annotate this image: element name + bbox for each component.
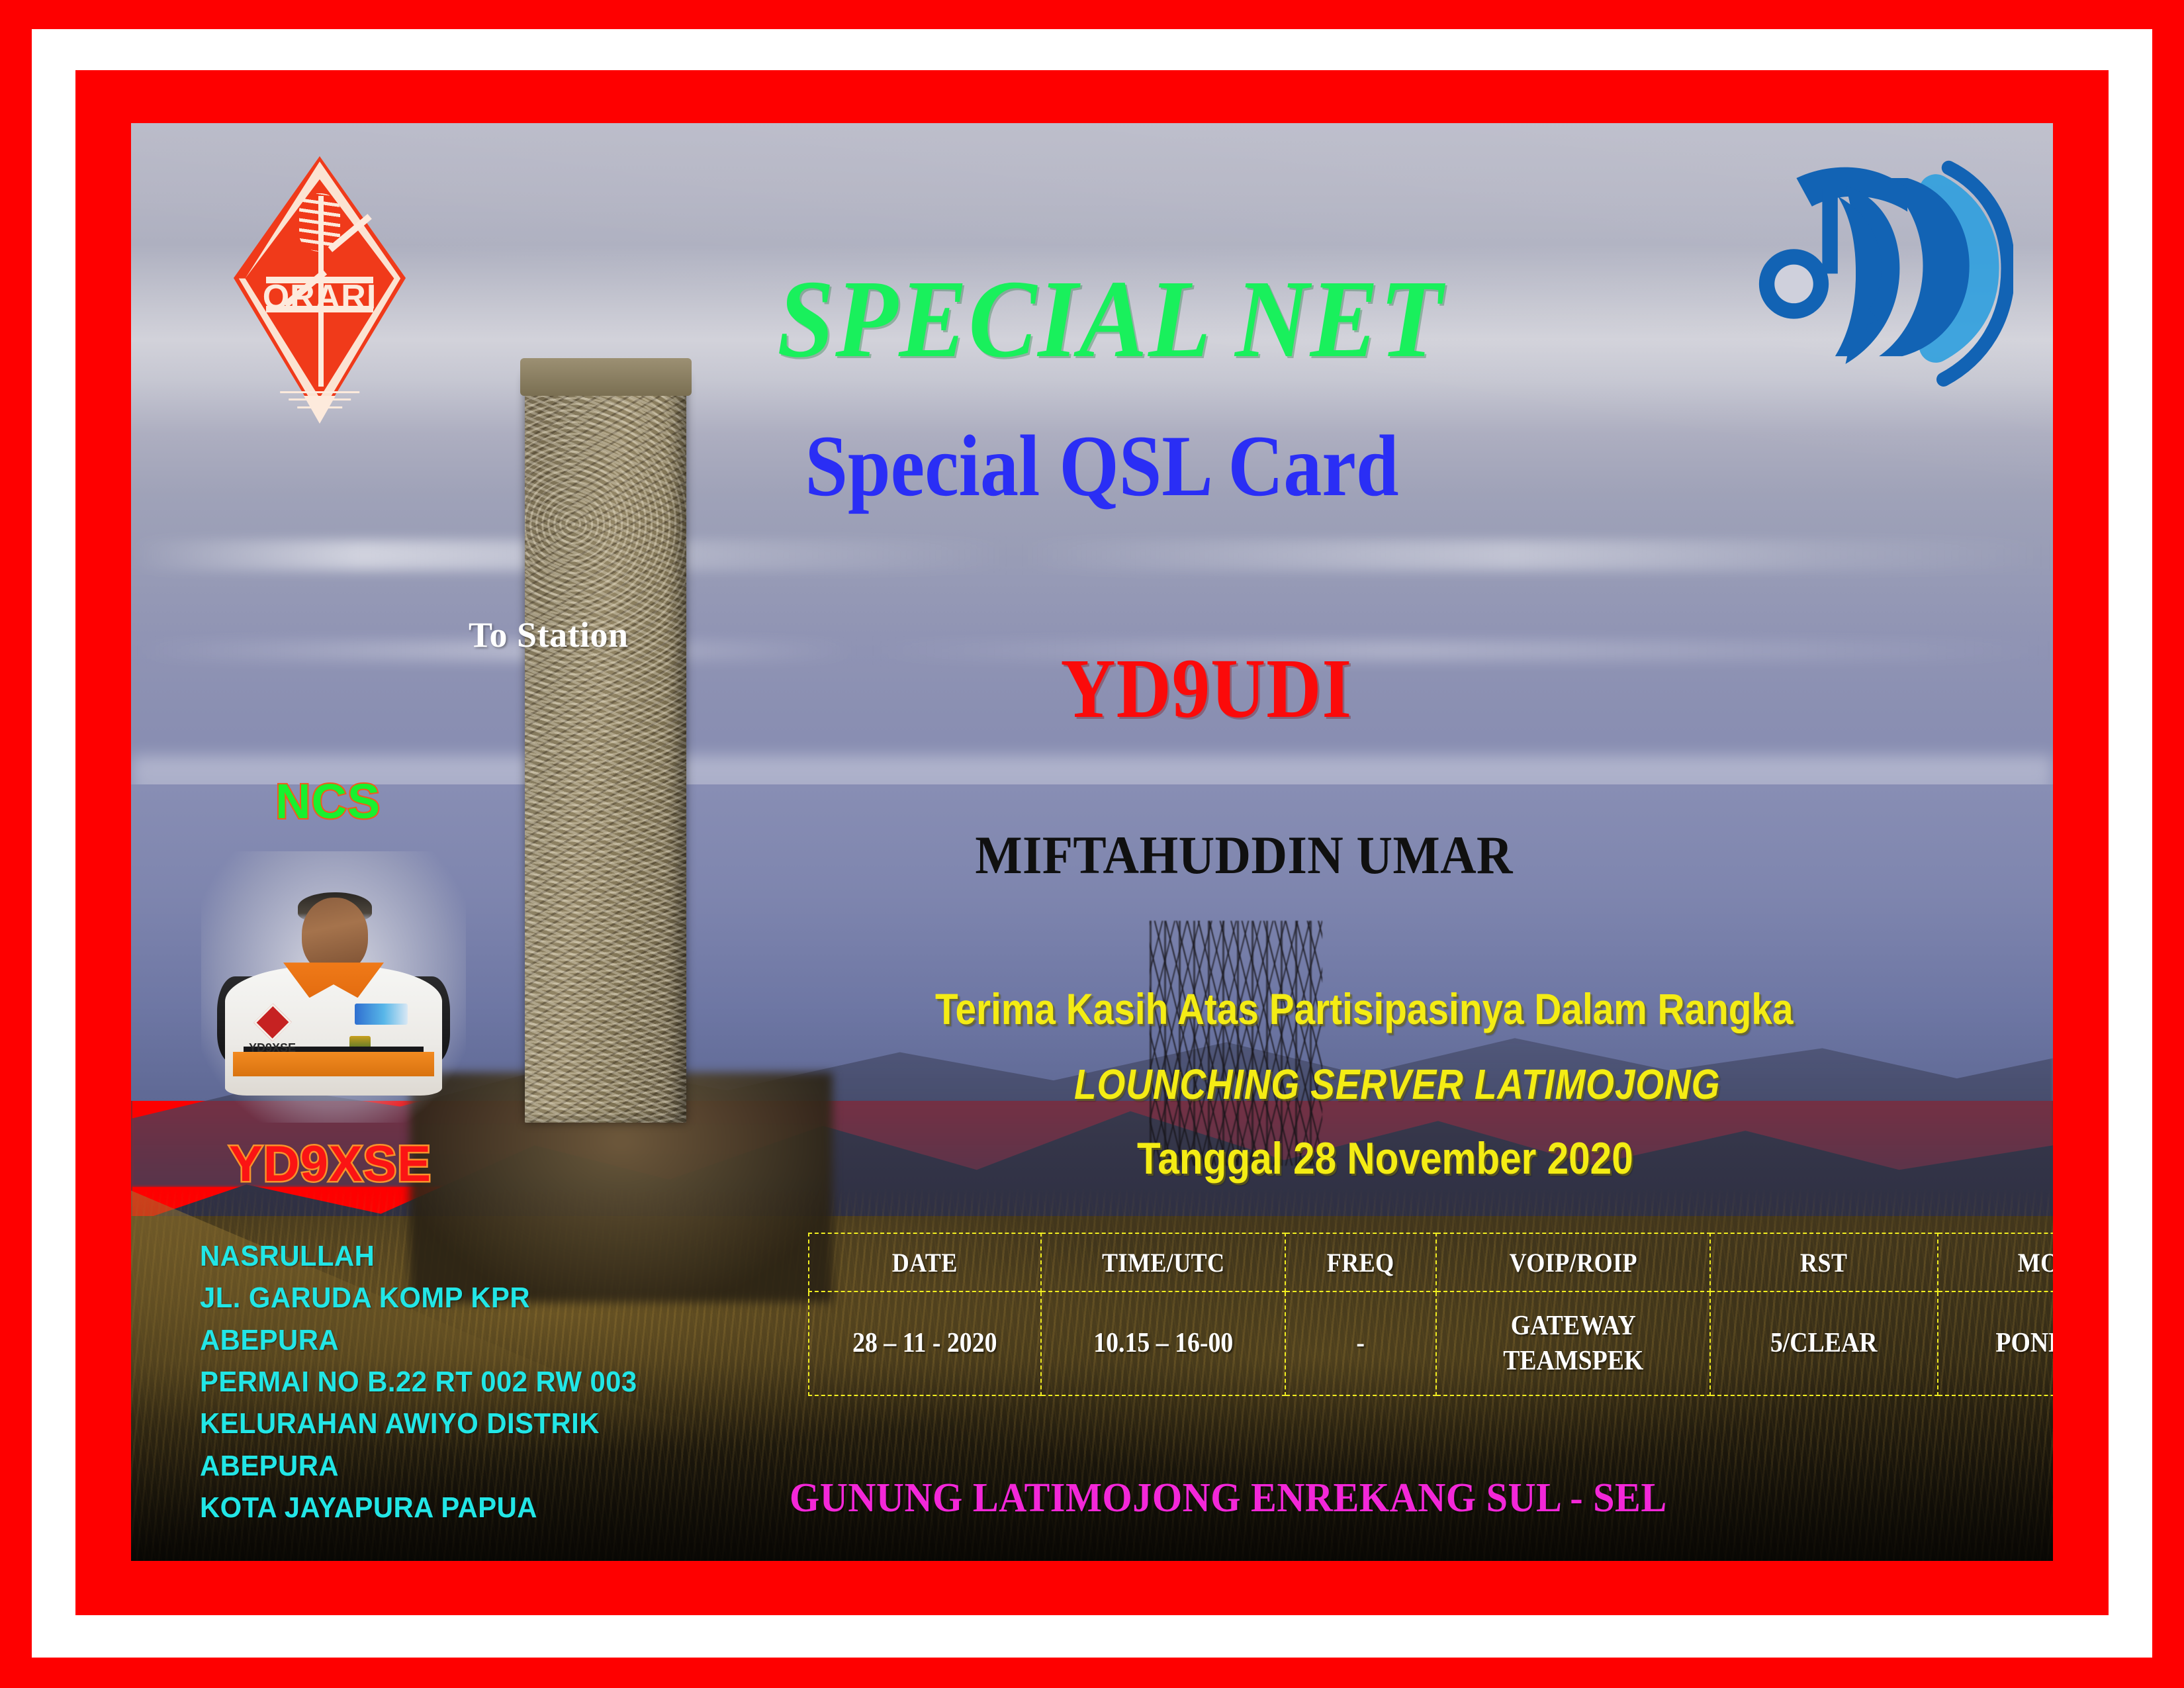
address-line: PERMAI NO B.22 RT 002 RW 003 bbox=[200, 1361, 637, 1403]
table-row: 28 – 11 - 2020 10.15 – 16-00 - GATEWAY T… bbox=[809, 1291, 2053, 1395]
address-line: KOTA JAYAPURA PAPUA bbox=[200, 1487, 637, 1528]
event-date: Tanggal 28 November 2020 bbox=[1137, 1133, 1633, 1184]
photo-waistband bbox=[233, 1052, 434, 1076]
card-photo-background: ORARI bbox=[131, 123, 2053, 1561]
column-header-mode: MODE bbox=[1949, 1233, 2053, 1291]
cell-voip: GATEWAY TEAMSPEK bbox=[1449, 1291, 1696, 1395]
location-caption: GUNUNG LATIMOJONG ENREKANG SUL - SEL bbox=[790, 1477, 1667, 1519]
cell-rst: 5/CLEAR bbox=[1721, 1291, 1926, 1395]
column-header-date: DATE bbox=[821, 1233, 1030, 1291]
to-station-label: To Station bbox=[469, 614, 629, 655]
cloud-wisp-upper bbox=[131, 540, 2053, 571]
address-line: ABEPURA bbox=[200, 1319, 637, 1361]
qso-log-table: DATE TIME/UTC FREQ VOIP/ROIP RST MODE 28… bbox=[808, 1233, 2053, 1396]
thanks-message: Terima Kasih Atas Partisipasinya Dalam R… bbox=[935, 984, 1794, 1034]
subtitle: Special QSL Card bbox=[246, 422, 1938, 510]
cell-mode: PONE/CW bbox=[1949, 1291, 2053, 1395]
cell-time: 10.15 – 16-00 bbox=[1053, 1291, 1273, 1395]
event-name: LOUNCHING SERVER LATIMOJONG bbox=[1074, 1060, 1720, 1109]
qsl-card-frame: ORARI bbox=[0, 0, 2184, 1688]
station-callsign: YD9UDI bbox=[1060, 646, 1352, 731]
cell-voip-line2: TEAMSPEK bbox=[1503, 1346, 1643, 1376]
ncs-callsign: YD9XSE bbox=[229, 1139, 432, 1190]
cell-voip-line1: GATEWAY bbox=[1510, 1311, 1635, 1341]
page-title: SPECIAL NET bbox=[208, 263, 1976, 375]
cell-freq: - bbox=[1293, 1291, 1429, 1395]
cell-date: 28 – 11 - 2020 bbox=[821, 1291, 1030, 1395]
frame-white-gap: ORARI bbox=[32, 29, 2152, 1658]
column-header-freq: FREQ bbox=[1293, 1233, 1429, 1291]
photo-face bbox=[302, 898, 368, 974]
table-header-row: DATE TIME/UTC FREQ VOIP/ROIP RST MODE bbox=[809, 1233, 2053, 1291]
address-line: KELURAHAN AWIYO DISTRIK bbox=[200, 1403, 637, 1444]
address-line: NASRULLAH bbox=[200, 1235, 637, 1277]
operator-name: MIFTAHUDDIN UMAR bbox=[975, 828, 1513, 882]
ncs-operator-photo: YD9XSE bbox=[201, 851, 466, 1123]
frame-inner-red-border: ORARI bbox=[75, 70, 2109, 1615]
address-line: JL. GARUDA KOMP KPR bbox=[200, 1277, 637, 1319]
tree-silhouette bbox=[1150, 921, 1322, 1165]
orari-diamond-tip bbox=[304, 396, 336, 424]
sender-address-block: NASRULLAH JL. GARUDA KOMP KPR ABEPURA PE… bbox=[200, 1235, 637, 1529]
address-line: ABEPURA bbox=[200, 1445, 637, 1487]
ncs-label: NCS bbox=[275, 777, 381, 826]
photo-chest-badge bbox=[355, 1004, 408, 1025]
column-header-voip: VOIP/ROIP bbox=[1449, 1233, 1696, 1291]
column-header-time: TIME/UTC bbox=[1053, 1233, 1273, 1291]
column-header-rst: RST bbox=[1721, 1233, 1926, 1291]
photo-callsign-embroidery: YD9XSE bbox=[249, 1041, 296, 1055]
